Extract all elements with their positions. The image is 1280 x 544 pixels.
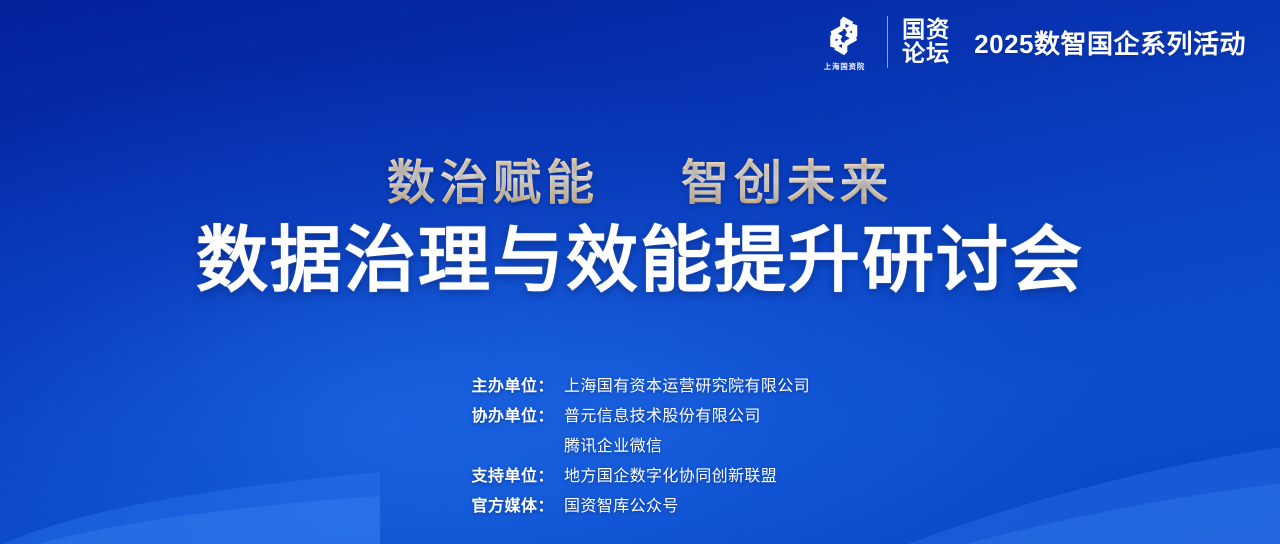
page-title: 数据治理与效能提升研讨会	[0, 223, 1280, 301]
forum-name-line-2: 论坛	[902, 42, 950, 66]
credit-label: 主办单位：	[450, 372, 554, 396]
credit-row: 官方媒体：国资智库公众号	[450, 492, 830, 516]
header-divider	[887, 16, 888, 68]
poster-header: 上海国资院 国资 论坛 2025数智国企系列活动	[815, 11, 1246, 73]
credit-row: 腾讯企业微信	[450, 432, 830, 456]
credit-row: 协办单位：普元信息技术股份有限公司	[450, 402, 830, 426]
campaign-title: 2025数智国企系列活动	[974, 24, 1246, 61]
event-poster: 上海国资院 国资 论坛 2025数智国企系列活动 数治赋能 智创未来 数据治理与…	[0, 0, 1280, 544]
credit-value: 普元信息技术股份有限公司	[554, 402, 761, 426]
credit-value: 腾讯企业微信	[554, 432, 662, 456]
event-tagline: 数治赋能 智创未来	[0, 143, 1280, 213]
tagline-right: 智创未来	[681, 157, 893, 210]
credit-value: 上海国有资本运营研究院有限公司	[554, 372, 810, 396]
forum-name: 国资 论坛	[902, 18, 950, 66]
hexagon-pinwheel-logo-icon: 上海国资院	[815, 11, 873, 73]
forum-name-line-1: 国资	[902, 18, 950, 42]
credit-label: 协办单位：	[450, 402, 554, 426]
credit-label: 支持单位：	[450, 462, 554, 486]
credit-value: 国资智库公众号	[554, 492, 679, 516]
credit-row: 支持单位：地方国企数字化协同创新联盟	[450, 462, 830, 486]
credit-value: 地方国企数字化协同创新联盟	[554, 462, 777, 486]
tagline-left: 数治赋能	[387, 157, 599, 210]
logo-subtext: 上海国资院	[823, 61, 864, 71]
credits-block: 主办单位：上海国有资本运营研究院有限公司协办单位：普元信息技术股份有限公司腾讯企…	[0, 372, 1280, 516]
credit-label: 官方媒体：	[450, 492, 554, 516]
credit-row: 主办单位：上海国有资本运营研究院有限公司	[450, 372, 830, 396]
